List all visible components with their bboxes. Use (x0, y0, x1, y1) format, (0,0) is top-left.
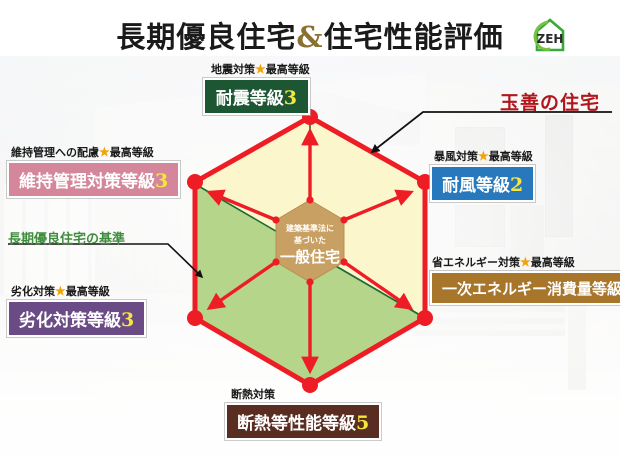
grade-box-degradation: 劣化対策等級3 (7, 300, 146, 337)
grade-box-value: 3 (284, 87, 297, 109)
star-icon: ★ (478, 149, 489, 163)
grade-label-earthquake: 地震対策★最高等級 耐震等級3 (203, 63, 310, 115)
center-label-line2: 基づいた (293, 235, 326, 245)
grade-caption-maintenance: 維持管理への配慮★最高等級 (7, 146, 180, 159)
grade-box-text: 断熱等性能等級 (237, 414, 356, 434)
grade-box-text: 劣化対策等級 (19, 311, 121, 331)
grade-box-value: 2 (510, 174, 523, 196)
star-icon: ★ (520, 255, 531, 269)
standard-callout-label: 長期優良住宅の基準 (8, 228, 125, 247)
grade-caption-insulation: 断熱対策 (225, 388, 381, 401)
grade-box-insulation: 断熱等性能等級5 (225, 403, 381, 440)
grade-caption-text: 維持管理への配慮 (11, 146, 99, 159)
grade-caption-text: 暴風対策 (434, 150, 478, 163)
grade-caption-text: 地震対策 (211, 63, 255, 76)
grade-box-text: 耐震等級 (216, 89, 284, 109)
grade-label-insulation: 断熱対策 断熱等性能等級5 (225, 388, 381, 440)
company-callout-leader (372, 112, 612, 152)
grade-label-maintenance: 維持管理への配慮★最高等級 維持管理対策等級3 (7, 146, 180, 198)
grade-caption-rank: 最高等級 (110, 146, 154, 159)
grade-box-value: 3 (155, 170, 168, 192)
grade-box-text: 維持管理対策等級 (19, 172, 155, 192)
grade-caption-rank: 最高等級 (531, 256, 575, 269)
grade-caption-text: 劣化対策 (11, 285, 55, 298)
star-icon: ★ (99, 145, 110, 159)
company-callout-label: 玉善の住宅 (500, 88, 600, 115)
infographic-root: 長期優良住宅&住宅性能評価 ZEH (0, 0, 620, 464)
standard-callout-leader (8, 244, 202, 277)
grade-caption-text: 断熱対策 (231, 388, 275, 401)
grade-box-value: 5 (356, 412, 369, 434)
grade-label-energy: 省エネルギー対策★最高等級 一次エネルギー消費量等級6 (430, 256, 620, 305)
center-label-line3: 一般住宅 (280, 248, 340, 266)
grade-caption-wind: 暴風対策★最高等級 (430, 150, 535, 163)
grade-caption-rank: 最高等級 (266, 63, 310, 76)
center-label-line1: 建築基準法に (285, 223, 334, 233)
grade-caption-rank: 最高等級 (66, 285, 110, 298)
grade-label-degradation: 劣化対策★最高等級 劣化対策等級3 (7, 285, 146, 337)
grade-caption-rank: 最高等級 (489, 150, 533, 163)
grade-box-wind: 耐風等級2 (430, 165, 535, 202)
star-icon: ★ (255, 62, 266, 76)
grade-caption-text: 省エネルギー対策 (432, 256, 520, 269)
grade-box-maintenance: 維持管理対策等級3 (7, 161, 180, 198)
grade-caption-energy: 省エネルギー対策★最高等級 (430, 256, 620, 269)
star-icon: ★ (55, 284, 66, 298)
grade-box-earthquake: 耐震等級3 (203, 78, 310, 115)
grade-box-value: 3 (121, 309, 134, 331)
grade-box-energy: 一次エネルギー消費量等級6 (430, 271, 620, 305)
grade-box-text: 一次エネルギー消費量等級 (442, 280, 620, 298)
grade-label-wind: 暴風対策★最高等級 耐風等級2 (430, 150, 535, 202)
grade-box-text: 耐風等級 (442, 176, 510, 196)
grade-caption-earthquake: 地震対策★最高等級 (203, 63, 310, 76)
grade-caption-degradation: 劣化対策★最高等級 (7, 285, 146, 298)
